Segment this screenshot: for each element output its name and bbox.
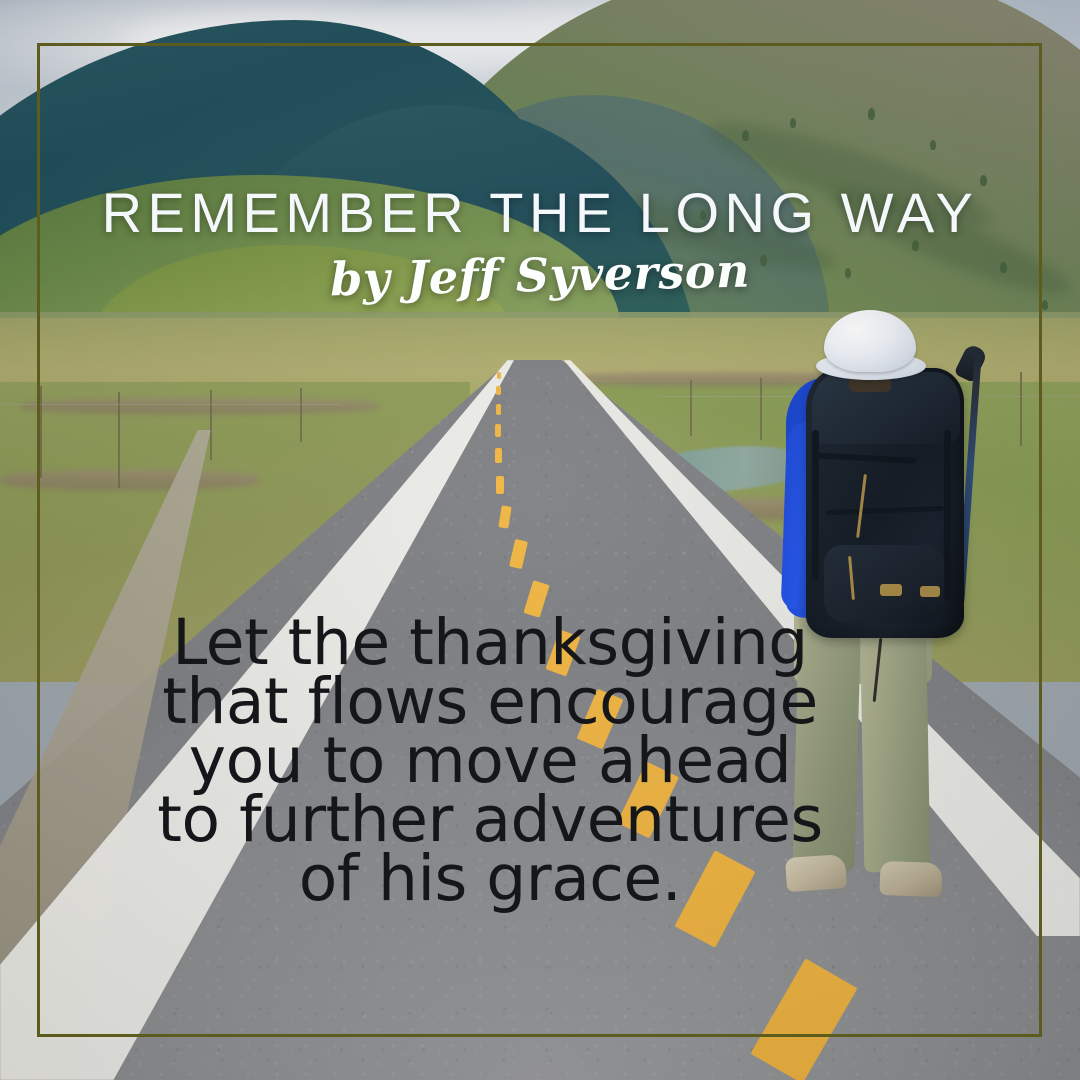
background-photo (0, 0, 1080, 1080)
quote-line: Let the thanksgiving (90, 613, 890, 672)
backpack-buckle (920, 586, 940, 597)
quote-block: Let the thanksgiving that flows encourag… (90, 613, 890, 908)
quote-line: of his grace. (90, 849, 890, 908)
page-title: REMEMBER THE LONG WAY (0, 180, 1080, 245)
backpack-strap (812, 430, 819, 580)
quote-line: that flows encourage (90, 672, 890, 731)
quote-line: you to move ahead (90, 731, 890, 790)
hiker-figure (0, 0, 1080, 1080)
quote-line: to further adventures (90, 790, 890, 849)
backpack-buckle (880, 584, 902, 596)
poster-canvas: REMEMBER THE LONG WAY by Jeff Syverson L… (0, 0, 1080, 1080)
backpack-strap (944, 430, 951, 600)
trekking-pole-grip (954, 343, 989, 383)
hiker-hat (824, 310, 916, 372)
